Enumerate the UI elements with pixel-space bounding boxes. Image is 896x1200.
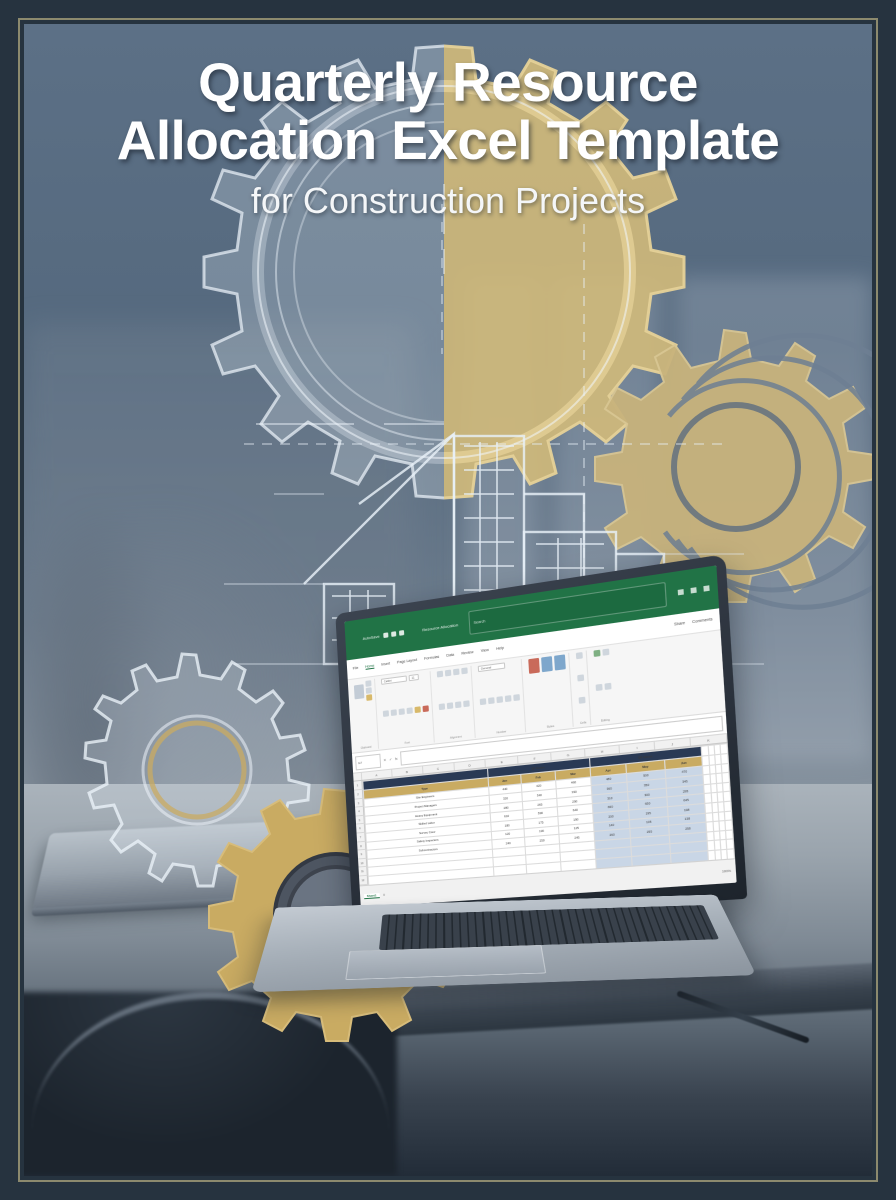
cell-empty[interactable] (724, 791, 731, 801)
document-name[interactable]: Resource Allocation (422, 622, 458, 632)
borders-icon[interactable] (407, 707, 413, 714)
ribbon-label-cells: Cells (580, 721, 587, 725)
minimize-icon[interactable] (678, 589, 684, 595)
format-painter-icon[interactable] (366, 693, 372, 700)
window-controls[interactable] (678, 584, 713, 595)
tab-data[interactable]: Data (447, 653, 455, 658)
find-select-icon[interactable] (605, 682, 612, 689)
sort-filter-icon[interactable] (596, 683, 603, 690)
ribbon-group-cells[interactable]: Cells (573, 649, 592, 726)
enter-icon[interactable]: ✓ (389, 757, 392, 761)
laptop: AutoSave Resource Allocation Search (278, 612, 719, 1038)
laptop-lid: AutoSave Resource Allocation Search (336, 554, 748, 923)
comments-button[interactable]: Comments (692, 617, 713, 624)
ribbon-label-number: Number (482, 728, 522, 736)
close-icon[interactable] (704, 585, 710, 591)
tab-formulas[interactable]: Formulas (424, 655, 439, 661)
tab-file[interactable]: File (353, 666, 359, 671)
font-name-select[interactable]: Calibri (381, 674, 407, 683)
cell-empty[interactable] (726, 829, 733, 839)
cut-icon[interactable] (365, 679, 371, 686)
copy-icon[interactable] (366, 686, 372, 693)
align-left-icon[interactable] (439, 703, 445, 710)
zoom-level[interactable]: 100% (722, 868, 731, 873)
excel-autosave-label[interactable]: AutoSave (363, 633, 380, 640)
cover-page: AutoSave Resource Allocation Search (0, 0, 896, 1200)
cell-empty-k1[interactable] (721, 744, 728, 754)
delete-cells-icon[interactable] (577, 674, 584, 681)
insert-cells-icon[interactable] (576, 651, 583, 658)
ribbon-label-alignment: Alignment (441, 734, 472, 741)
ribbon-group-number[interactable]: General Number (475, 658, 527, 737)
align-top-icon[interactable] (437, 670, 443, 677)
paste-icon[interactable] (354, 683, 364, 698)
cover-stage: AutoSave Resource Allocation Search (24, 24, 872, 1176)
conditional-formatting-icon[interactable] (528, 657, 540, 673)
laptop-keyboard (379, 905, 720, 950)
cell-styles-icon[interactable] (554, 653, 566, 669)
cell-empty[interactable] (726, 820, 733, 830)
cell-empty-k2[interactable] (722, 753, 729, 763)
tab-insert[interactable]: Insert (382, 661, 391, 666)
font-color-icon[interactable] (423, 705, 429, 712)
format-cells-icon[interactable] (579, 697, 586, 704)
font-size-select[interactable]: 11 (409, 673, 419, 680)
fill-series-icon[interactable] (602, 648, 609, 655)
tab-page-layout[interactable]: Page Layout (397, 658, 417, 665)
comma-icon[interactable] (496, 695, 503, 702)
tab-help[interactable]: Help (496, 646, 504, 651)
tab-review[interactable]: Review (462, 650, 474, 656)
maximize-icon[interactable] (691, 587, 697, 593)
merge-cells-icon[interactable] (463, 699, 470, 706)
percent-icon[interactable] (488, 696, 495, 703)
ribbon-group-editing[interactable]: Editing (590, 646, 617, 724)
tab-home[interactable]: Home (365, 663, 375, 669)
quick-access-toolbar[interactable] (384, 630, 405, 638)
ribbon-group-styles[interactable]: Styles (525, 652, 574, 732)
increase-decimal-icon[interactable] (505, 694, 512, 701)
number-format-select[interactable]: General (478, 661, 506, 671)
cell-empty[interactable] (727, 839, 734, 849)
cell-empty[interactable] (723, 772, 730, 782)
ribbon-right-actions[interactable]: Share Comments (674, 617, 713, 627)
ribbon-label-clipboard: Clipboard (358, 745, 376, 750)
sheet-tab[interactable]: Sheet1 (364, 892, 380, 898)
ribbon-label-editing: Editing (598, 718, 614, 723)
underline-icon[interactable] (399, 708, 405, 715)
save-icon[interactable] (384, 632, 389, 638)
share-button[interactable]: Share (674, 621, 685, 627)
cell-empty[interactable] (725, 801, 732, 811)
cancel-icon[interactable]: ✕ (384, 758, 387, 762)
ribbon-group-clipboard[interactable]: Clipboard (351, 678, 379, 751)
cell-empty[interactable] (723, 782, 730, 792)
align-right-icon[interactable] (455, 701, 462, 708)
cell-empty[interactable] (722, 763, 729, 773)
italic-icon[interactable] (391, 708, 397, 715)
bold-icon[interactable] (383, 709, 389, 716)
format-as-table-icon[interactable] (541, 655, 553, 671)
ribbon-group-font[interactable]: Calibri 11 Font (378, 670, 435, 748)
undo-icon[interactable] (392, 631, 397, 637)
autosum-icon[interactable] (594, 649, 601, 656)
laptop-base (252, 895, 757, 993)
excel-screen: AutoSave Resource Allocation Search (345, 565, 737, 906)
align-center-icon[interactable] (447, 702, 453, 709)
fill-color-icon[interactable] (415, 706, 421, 713)
ribbon-group-alignment[interactable]: Alignment (434, 665, 476, 742)
decrease-decimal-icon[interactable] (513, 693, 520, 700)
align-bottom-icon[interactable] (453, 667, 460, 674)
redo-icon[interactable] (399, 630, 404, 636)
name-box[interactable]: G7 (355, 753, 381, 769)
title-block: Quarterly Resource Allocation Excel Temp… (24, 53, 872, 223)
cell-empty[interactable] (728, 848, 735, 858)
tab-view[interactable]: View (481, 648, 489, 653)
ribbon-label-styles: Styles (532, 723, 569, 730)
currency-icon[interactable] (480, 697, 487, 704)
page-title-line2: Allocation Excel Template (50, 111, 846, 169)
laptop-trackpad (346, 945, 546, 980)
align-middle-icon[interactable] (445, 669, 451, 676)
page-subtitle: for Construction Projects (50, 179, 846, 222)
insert-function-icon[interactable]: fx (395, 756, 398, 760)
wrap-text-icon[interactable] (461, 666, 468, 673)
status-count: 0 (383, 893, 385, 897)
cell-empty[interactable] (725, 810, 732, 820)
page-title-line1: Quarterly Resource (50, 53, 846, 111)
